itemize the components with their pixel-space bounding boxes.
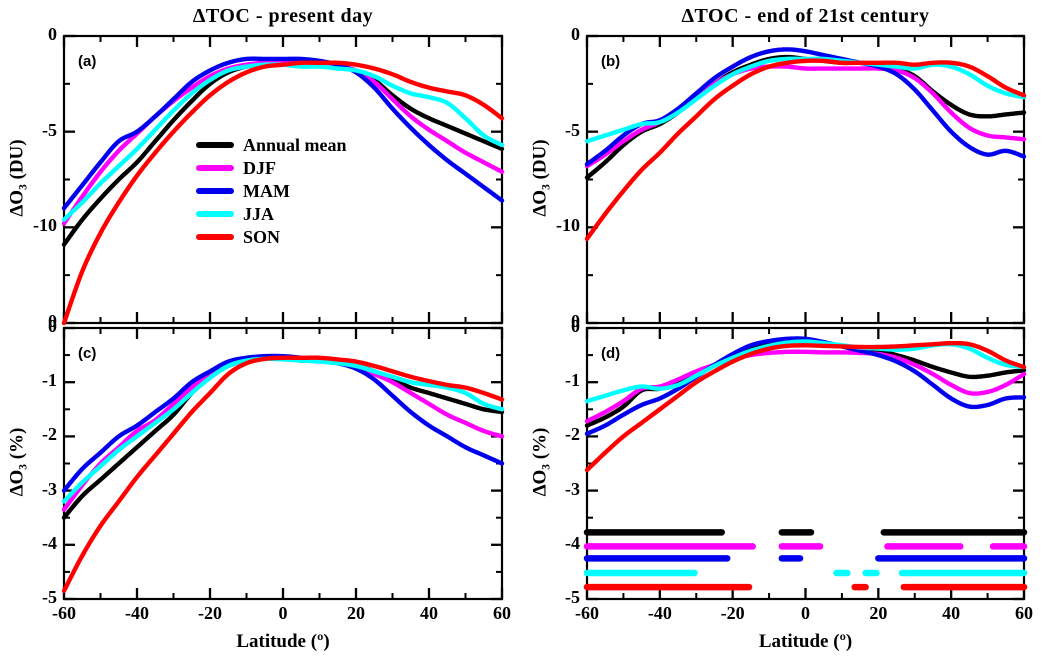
panel_c-ytick-3: -3 [42,479,57,500]
panel-tag-c: (c) [78,345,96,362]
panel_a-ytick-0: 0 [48,24,57,45]
series-line [64,356,502,491]
panel_a-ytick-1: -5 [42,120,57,141]
series-line [587,340,1024,426]
panel-tag-a: (a) [78,53,96,70]
panel_d-ytick-4: -4 [565,533,580,554]
panel_c-xtick-3: 0 [243,603,323,624]
series-line [587,61,1024,239]
series-line [64,357,502,517]
panel_c-xtick-2: -20 [170,603,250,624]
series-line [587,343,1024,470]
panel_d-xtick-2: -20 [693,603,773,624]
panel_d-frame [587,328,1024,599]
panel_c-xaxis-label: Latitude (º) [64,631,502,653]
series-line [587,339,1024,434]
panel_d-ytick-3: -3 [565,479,580,500]
chart-title-right: ΔTOC - end of 21st century [587,5,1024,28]
panel_a-yaxis-label: ΔO₃ (DU) [6,34,28,321]
panel_c-xtick-4: 20 [316,603,396,624]
legend-label-jja: JJA [243,205,274,223]
panel_b-ytick-2: -10 [556,215,580,236]
panel_d-xaxis-label: Latitude (º) [587,631,1024,653]
panel_c-ytick-4: -4 [42,533,57,554]
legend-label-djf: DJF [243,159,276,177]
legend: Annual meanDJFMAMJJASON [196,133,347,248]
legend-swatch-son [196,234,234,240]
legend-swatch-djf [196,165,234,171]
panel_d-xtick-5: 40 [911,603,991,624]
panel_d-ytick-0: 0 [571,316,580,337]
legend-swatch-jja [196,211,234,217]
series-line [587,57,1024,178]
panel_b-frame [587,36,1024,323]
panel-tag-b: (b) [601,53,620,70]
panel_c-ytick-1: -1 [42,370,57,391]
legend-item-jja: JJA [196,202,347,225]
legend-item-annual-mean: Annual mean [196,133,347,156]
panel_d-ytick-2: -2 [565,424,580,445]
series-line [64,359,502,502]
panel-tag-d: (d) [601,345,620,362]
legend-swatch-mam [196,188,234,194]
panel_d-xtick-1: -40 [620,603,700,624]
panel_d-xtick-6: 60 [984,603,1046,624]
series-line [587,66,1024,166]
legend-swatch-annual_mean [196,142,234,148]
legend-label-son: SON [243,228,280,246]
panel_d-canvas [0,0,1046,665]
figure-root: ΔTOC - present dayΔTOC - end of 21st cen… [0,0,1046,665]
legend-item-son: SON [196,225,347,248]
chart-title-left: ΔTOC - present day [64,5,502,28]
series-line [587,49,1024,164]
series-line [64,358,502,510]
panel_c-yaxis-label: ΔO₃ (%) [6,326,28,597]
panel_c-frame [64,328,502,599]
panel_d-xtick-0: -60 [547,603,627,624]
panel_b-ytick-1: -5 [565,120,580,141]
panel_d-xtick-3: 0 [766,603,846,624]
series-line [587,59,1024,141]
panel_d-ytick-1: -1 [565,370,580,391]
panel_a-ytick-2: -10 [33,215,57,236]
panel_b-yaxis-label: ΔO₃ (DU) [529,34,551,321]
legend-label-annual_mean: Annual mean [243,136,347,154]
series-line [64,358,502,591]
legend-item-mam: MAM [196,179,347,202]
panel_a-canvas [0,0,1046,665]
legend-label-mam: MAM [243,182,290,200]
panel_c-canvas [0,0,1046,665]
panel_c-ytick-0: 0 [48,316,57,337]
panel_c-xtick-6: 60 [462,603,542,624]
panel_b-ytick-0: 0 [571,24,580,45]
panel_d-xtick-4: 20 [838,603,918,624]
panel_c-xtick-5: 40 [389,603,469,624]
legend-item-djf: DJF [196,156,347,179]
panel_c-xtick-0: -60 [24,603,104,624]
series-line [587,352,1024,421]
panel_c-xtick-1: -40 [97,603,177,624]
series-line [587,342,1024,402]
panel_c-ytick-2: -2 [42,424,57,445]
panel_d-yaxis-label: ΔO₃ (%) [529,326,551,597]
panel_b-canvas [0,0,1046,665]
